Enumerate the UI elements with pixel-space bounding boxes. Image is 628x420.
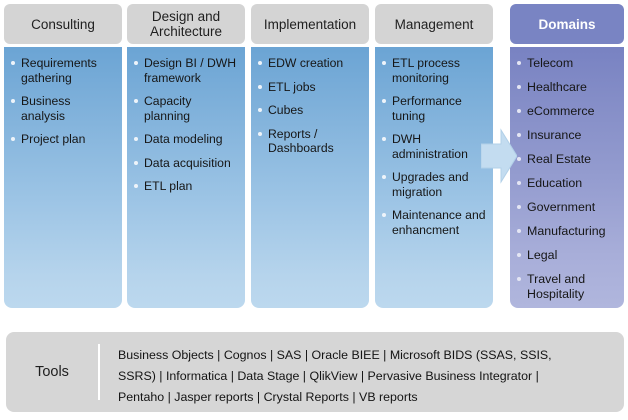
tools-label: Tools: [6, 332, 98, 412]
list-item-label: Project plan: [21, 132, 85, 146]
list-item-label: Travel and Hospitality: [527, 272, 585, 301]
service-column-implementation[interactable]: Implementation EDW creation ETL jobs Cub…: [251, 4, 369, 309]
list-item[interactable]: ETL plan: [133, 179, 240, 194]
list-item-label: Government: [527, 200, 595, 214]
service-columns-row: Consulting Requirements gathering Busine…: [0, 0, 628, 312]
column-header-consulting: Consulting: [4, 4, 122, 44]
list-item-label: Maintenance and enhancment: [392, 208, 486, 237]
column-header-label: Implementation: [260, 17, 360, 32]
column-body-domains: Telecom Healthcare eCommerce Insurance R…: [510, 47, 624, 308]
list-item[interactable]: Telecom: [516, 56, 619, 71]
service-column-management[interactable]: Management ETL process monitoring Perfor…: [375, 4, 493, 309]
list-item-label: Healthcare: [527, 80, 587, 94]
service-column-consulting[interactable]: Consulting Requirements gathering Busine…: [4, 4, 122, 309]
service-column-design-and-architecture[interactable]: Design and Architecture Design BI / DWH …: [127, 4, 245, 309]
list-item[interactable]: Maintenance and enhancment: [381, 208, 488, 237]
list-item-label: EDW creation: [268, 56, 343, 70]
list-item-label: Reports / Dashboards: [268, 127, 334, 156]
list-item[interactable]: Requirements gathering: [10, 56, 117, 85]
list-item-label: Performance tuning: [392, 94, 462, 123]
list-item[interactable]: Capacity planning: [133, 94, 240, 123]
list-item-label: Data acquisition: [144, 156, 231, 170]
column-header-label: Consulting: [27, 17, 99, 32]
list-item-label: Design BI / DWH framework: [144, 56, 236, 85]
list-item-label: Insurance: [527, 128, 581, 142]
list-item[interactable]: ETL jobs: [257, 80, 364, 95]
list-item[interactable]: Healthcare: [516, 80, 619, 95]
column-header-label: Domains: [534, 17, 599, 32]
list-item[interactable]: Design BI / DWH framework: [133, 56, 240, 85]
arrow-right-icon: [481, 126, 517, 186]
list-item[interactable]: Government: [516, 200, 619, 215]
tools-divider: [98, 344, 100, 400]
column-item-list: Design BI / DWH framework Capacity plann…: [133, 56, 240, 194]
list-item[interactable]: Insurance: [516, 128, 619, 143]
tools-line: Business Objects | Cognos | SAS | Oracle…: [118, 345, 610, 366]
list-item-label: Education: [527, 176, 582, 190]
service-column-domains[interactable]: Domains Telecom Healthcare eCommerce Ins…: [510, 4, 624, 309]
list-item-label: Legal: [527, 248, 557, 262]
list-item-label: Manufacturing: [527, 224, 606, 238]
list-item-label: Telecom: [527, 56, 573, 70]
list-item[interactable]: Legal: [516, 248, 619, 263]
list-item[interactable]: Travel and Hospitality: [516, 272, 619, 301]
list-item[interactable]: Upgrades and migration: [381, 170, 488, 199]
list-item[interactable]: Cubes: [257, 103, 364, 118]
column-body-design-and-architecture: Design BI / DWH framework Capacity plann…: [127, 47, 245, 308]
list-item[interactable]: Business analysis: [10, 94, 117, 123]
column-body-consulting: Requirements gathering Business analysis…: [4, 47, 122, 308]
list-item[interactable]: DWH administration: [381, 132, 488, 161]
list-item-label: eCommerce: [527, 104, 594, 118]
list-item-label: Real Estate: [527, 152, 591, 166]
column-header-implementation: Implementation: [251, 4, 369, 44]
list-item[interactable]: Real Estate: [516, 152, 619, 167]
list-item[interactable]: ETL process monitoring: [381, 56, 488, 85]
column-item-list: Telecom Healthcare eCommerce Insurance R…: [516, 56, 619, 301]
list-item[interactable]: eCommerce: [516, 104, 619, 119]
list-item-label: ETL jobs: [268, 80, 316, 94]
column-item-list: EDW creation ETL jobs Cubes Reports / Da…: [257, 56, 364, 156]
tools-line: Pentaho | Jasper reports | Crystal Repor…: [118, 387, 610, 408]
list-item[interactable]: Project plan: [10, 132, 117, 147]
column-header-label: Design and Architecture: [127, 9, 245, 39]
tools-bar: Tools Business Objects | Cognos | SAS | …: [6, 332, 624, 412]
list-item-label: ETL plan: [144, 179, 192, 193]
tools-label-text: Tools: [35, 364, 69, 380]
column-item-list: Requirements gathering Business analysis…: [10, 56, 117, 147]
list-item[interactable]: Performance tuning: [381, 94, 488, 123]
list-item-label: Requirements gathering: [21, 56, 97, 85]
column-header-label: Management: [391, 17, 478, 32]
column-body-management: ETL process monitoring Performance tunin…: [375, 47, 493, 308]
column-header-management: Management: [375, 4, 493, 44]
column-header-domains: Domains: [510, 4, 624, 44]
list-item-label: ETL process monitoring: [392, 56, 460, 85]
list-item[interactable]: EDW creation: [257, 56, 364, 71]
list-item-label: Business analysis: [21, 94, 70, 123]
tools-line: SSRS) | Informatica | Data Stage | QlikV…: [118, 366, 610, 387]
list-item[interactable]: Reports / Dashboards: [257, 127, 364, 156]
column-body-implementation: EDW creation ETL jobs Cubes Reports / Da…: [251, 47, 369, 308]
column-item-list: ETL process monitoring Performance tunin…: [381, 56, 488, 237]
list-item[interactable]: Data modeling: [133, 132, 240, 147]
column-header-design-and-architecture: Design and Architecture: [127, 4, 245, 44]
list-item-label: DWH administration: [392, 132, 468, 161]
list-item[interactable]: Data acquisition: [133, 156, 240, 171]
list-item-label: Capacity planning: [144, 94, 191, 123]
list-item-label: Upgrades and migration: [392, 170, 469, 199]
list-item-label: Data modeling: [144, 132, 223, 146]
list-item-label: Cubes: [268, 103, 303, 117]
list-item[interactable]: Education: [516, 176, 619, 191]
list-item[interactable]: Manufacturing: [516, 224, 619, 239]
tools-list: Business Objects | Cognos | SAS | Oracle…: [118, 345, 610, 408]
